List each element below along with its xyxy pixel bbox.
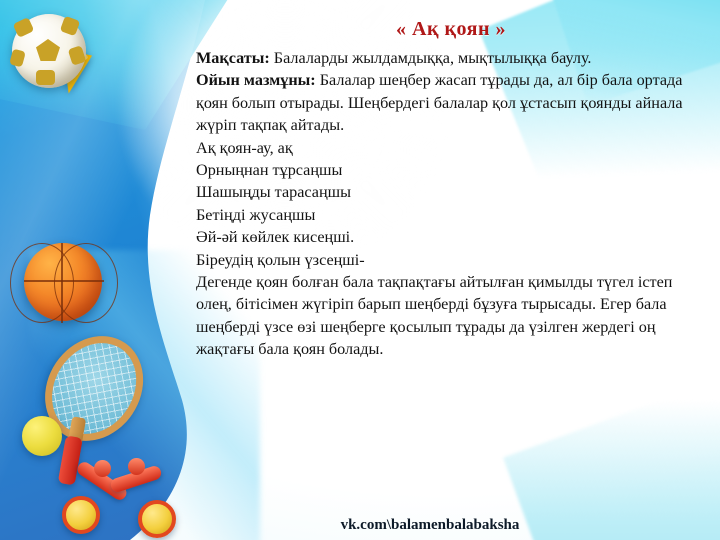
footer: vk.com\balamenbalabaksha — [0, 516, 720, 534]
poem-line: Орныңнан тұрсаңшы — [196, 159, 706, 181]
slide-canvas: « Ақ қоян » Мақсаты: Балаларды жылдамдық… — [0, 0, 720, 540]
tennis-ball-icon — [22, 416, 62, 456]
content-label: Ойын мазмұны: — [196, 71, 316, 89]
goal-label: Мақсаты: — [196, 49, 270, 67]
dumbbell-knob — [94, 460, 111, 477]
poem-line: Біреудің қолын үзсеңші- — [196, 249, 706, 271]
body-text: Мақсаты: Балаларды жылдамдыққа, мықтылық… — [196, 47, 706, 361]
vk-watermark: vk.com\balamenbalabaksha — [341, 517, 520, 534]
basketball-seam — [54, 243, 118, 323]
soccer-ball-icon — [12, 14, 86, 88]
goal-text: Балаларды жылдамдыққа, мықтылыққа баулу. — [270, 49, 592, 67]
closing-paragraph: Дегенде қоян болған бала тақпақтағы айты… — [196, 271, 706, 361]
content-paragraph: Ойын мазмұны: Балалар шеңбер жасап тұрад… — [196, 69, 706, 136]
poem-line: Бетіңді жусаңшы — [196, 204, 706, 226]
soccer-patch — [36, 70, 55, 85]
slide-title: « Ақ қоян » — [196, 18, 706, 40]
content-area: « Ақ қоян » Мақсаты: Балаларды жылдамдық… — [196, 18, 706, 361]
poem-line: Шашыңды тарасаңшы — [196, 181, 706, 203]
soccer-patch — [9, 49, 26, 68]
basketball-icon — [24, 243, 102, 321]
soccer-patch — [68, 45, 87, 65]
poem-block: Ақ қоян-ау, ақ Орныңнан тұрсаңшы Шашыңды… — [196, 137, 706, 271]
poem-line: Әй-әй көйлек кисеңші. — [196, 226, 706, 248]
goal-paragraph: Мақсаты: Балаларды жылдамдыққа, мықтылық… — [196, 47, 706, 69]
soccer-patch — [36, 39, 60, 61]
poem-line: Ақ қоян-ау, ақ — [196, 137, 706, 159]
dumbbell-knob — [128, 458, 145, 475]
